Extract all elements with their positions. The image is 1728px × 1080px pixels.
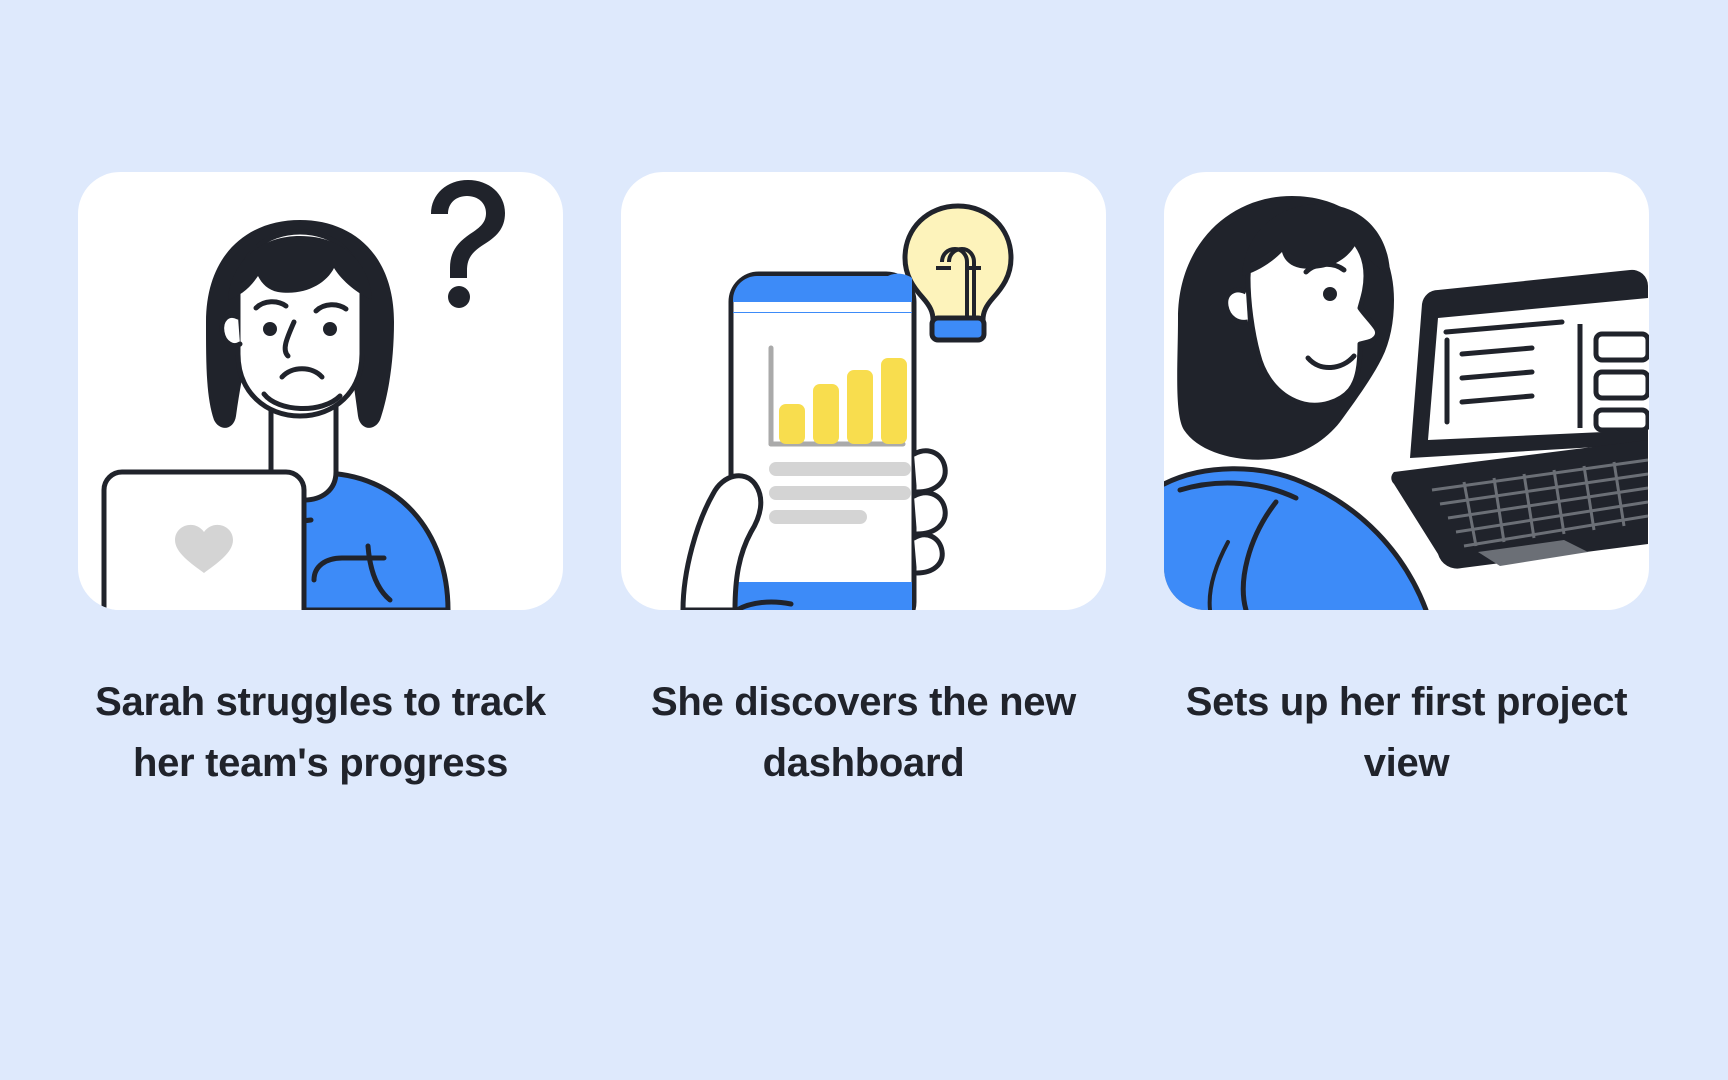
laptop-screen (1428, 298, 1648, 440)
bar-2 (813, 384, 839, 444)
illustration-card-3 (1164, 172, 1649, 610)
lightbulb-icon (905, 206, 1011, 340)
panel-caption-2: She discovers the new dashboard (629, 672, 1099, 794)
finger-2 (914, 493, 945, 534)
shirt (1164, 469, 1426, 610)
finger-3 (914, 535, 942, 573)
ear (1226, 290, 1248, 322)
panel-row: Sarah struggles to track her team's prog… (0, 0, 1728, 794)
bar-1 (779, 404, 805, 444)
bar-4 (881, 358, 907, 444)
bar-3 (847, 370, 873, 444)
woman-at-laptop-illustration (1164, 172, 1649, 610)
illustration-card-1 (78, 172, 563, 610)
panel-caption-3: Sets up her first project view (1172, 672, 1642, 794)
panel-caption-1: Sarah struggles to track her team's prog… (86, 672, 556, 794)
confused-woman-illustration (78, 172, 563, 610)
story-panel-1: Sarah struggles to track her team's prog… (78, 172, 563, 794)
eye (1323, 287, 1337, 301)
phone-dashboard-illustration (621, 172, 1106, 610)
laptop (1391, 270, 1648, 569)
illustration-card-2 (621, 172, 1106, 610)
story-board: Sarah struggles to track her team's prog… (0, 0, 1728, 1080)
finger-1 (914, 451, 945, 492)
story-panel-3: Sets up her first project view (1164, 172, 1649, 794)
story-panel-2: She discovers the new dashboard (621, 172, 1106, 794)
question-mark-icon (431, 180, 505, 308)
